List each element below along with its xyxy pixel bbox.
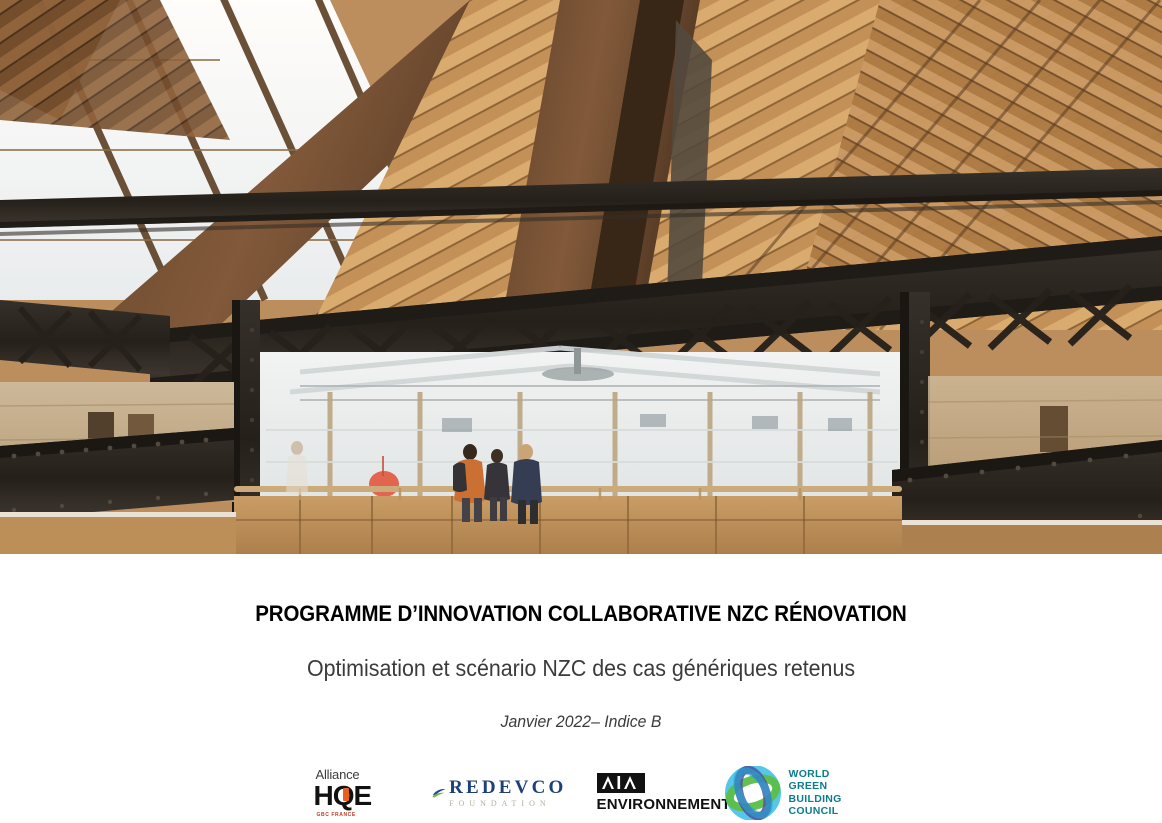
redevco-wordmark: REDEVCO FOUNDATION [449,778,566,808]
partner-logo-strip: Alliance HQE GBC FRANCE REDEVCO FOUNDATI… [0,762,1162,823]
worldgbc-line-2: GREEN [789,780,842,792]
redevco-subtitle: FOUNDATION [449,800,566,808]
page-subtitle: Optimisation et scénario NZC des cas gén… [41,655,1122,682]
redevco-swoosh-icon [432,778,446,808]
logo-world-green-building-council: WORLD GREEN BUILDING COUNCIL [725,765,849,821]
logo-alliance-hqe-tagline: GBC FRANCE [317,812,356,818]
worldgbc-line-1: WORLD [789,768,842,780]
aia-mark-box [597,773,645,793]
logo-aia-environnement: ENVIRONNEMENT [597,772,697,814]
worldgbc-wordmark: WORLD GREEN BUILDING COUNCIL [789,768,842,818]
redevco-name: REDEVCO [449,778,566,797]
aia-environnement-label: ENVIRONNEMENT [597,796,731,813]
cover-photo-illustration [0,0,1162,554]
logo-alliance-hqe-accent-mark [343,788,349,801]
cover-photo [0,0,1162,554]
logo-alliance-hqe-acronym: HQE [314,782,372,810]
aia-monogram-icon [600,775,642,790]
page-date: Janvier 2022– Indice B [41,712,1122,732]
worldgbc-line-4: COUNCIL [789,805,842,817]
logo-redevco-foundation: REDEVCO FOUNDATION [432,771,567,815]
worldgbc-line-3: BUILDING [789,793,842,805]
cover-page: PROGRAMME D’INNOVATION COLLABORATIVE NZC… [0,0,1162,823]
worldgbc-globe-icon [725,766,781,820]
logo-alliance-hqe: Alliance HQE GBC FRANCE [314,765,390,821]
page-title: PROGRAMME D’INNOVATION COLLABORATIVE NZC… [41,601,1122,627]
